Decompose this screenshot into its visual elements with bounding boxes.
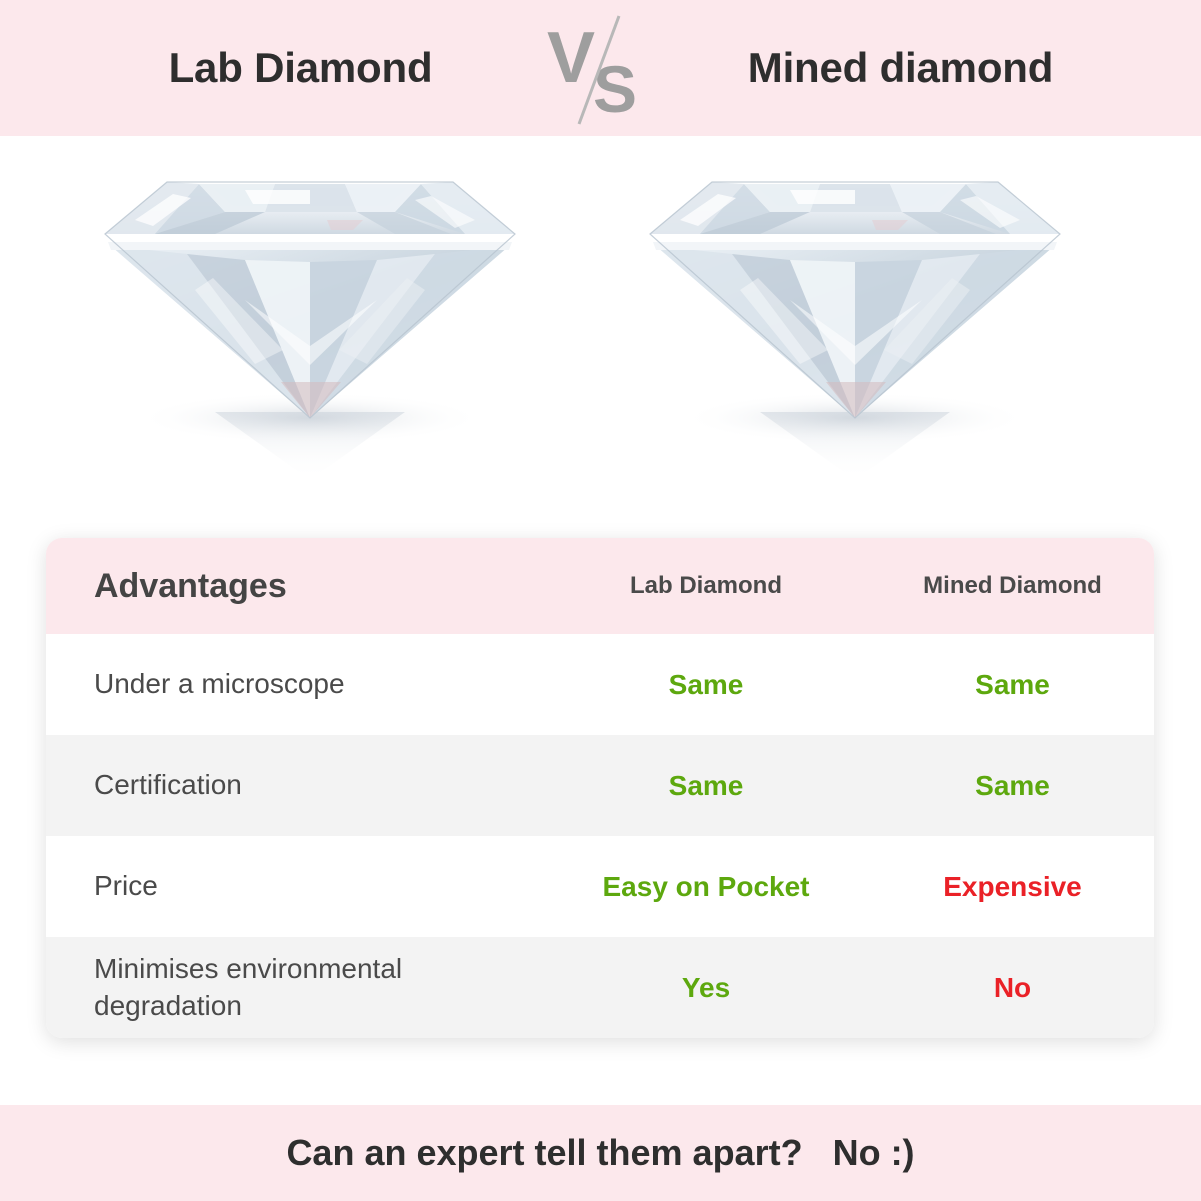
table-header-row: Advantages Lab Diamond Mined Diamond xyxy=(46,538,1154,634)
row-value-mined: Expensive xyxy=(871,836,1154,937)
table-row: Certification Same Same xyxy=(46,735,1154,836)
table-row: Under a microscope Same Same xyxy=(46,634,1154,735)
svg-text:S: S xyxy=(592,52,636,126)
table-row: Minimises environmental degradation Yes … xyxy=(46,937,1154,1038)
row-label: Minimises environmental degradation xyxy=(46,937,541,1038)
row-value-mined: No xyxy=(871,937,1154,1038)
header-right-title: Mined diamond xyxy=(661,44,1141,92)
table-row: Price Easy on Pocket Expensive xyxy=(46,836,1154,937)
svg-text:V: V xyxy=(546,18,594,98)
header-cell-lab-diamond: Lab Diamond xyxy=(541,538,871,634)
value-text: Easy on Pocket xyxy=(603,871,810,903)
row-value-mined: Same xyxy=(871,634,1154,735)
value-text: Same xyxy=(669,669,744,701)
row-label: Certification xyxy=(46,735,541,836)
footer-question: Can an expert tell them apart? No :) xyxy=(286,1132,914,1174)
value-text: Same xyxy=(975,770,1050,802)
header-cell-mined-diamond: Mined Diamond xyxy=(871,538,1154,634)
row-label: Under a microscope xyxy=(46,634,541,735)
value-text: Expensive xyxy=(943,871,1082,903)
comparison-table: Advantages Lab Diamond Mined Diamond Und… xyxy=(46,538,1154,1038)
vs-icon: V S xyxy=(541,8,661,128)
header-inner: Lab Diamond V S Mined diamond xyxy=(0,8,1201,128)
value-text: No xyxy=(994,972,1031,1004)
row-value-lab: Yes xyxy=(541,937,871,1038)
row-value-lab: Same xyxy=(541,735,871,836)
comparison-table-card: Advantages Lab Diamond Mined Diamond Und… xyxy=(46,538,1154,1038)
header-band: Lab Diamond V S Mined diamond xyxy=(0,0,1201,136)
value-text: Yes xyxy=(682,972,730,1004)
lab-diamond-image xyxy=(95,150,525,510)
footer-band: Can an expert tell them apart? No :) xyxy=(0,1105,1201,1201)
header-cell-advantages: Advantages xyxy=(46,538,541,634)
value-text: Same xyxy=(975,669,1050,701)
mined-diamond-image xyxy=(640,150,1070,510)
diamond-gallery xyxy=(0,136,1201,532)
value-text: Same xyxy=(669,770,744,802)
row-value-lab: Easy on Pocket xyxy=(541,836,871,937)
header-left-title: Lab Diamond xyxy=(61,44,541,92)
row-label: Price xyxy=(46,836,541,937)
row-value-mined: Same xyxy=(871,735,1154,836)
row-value-lab: Same xyxy=(541,634,871,735)
